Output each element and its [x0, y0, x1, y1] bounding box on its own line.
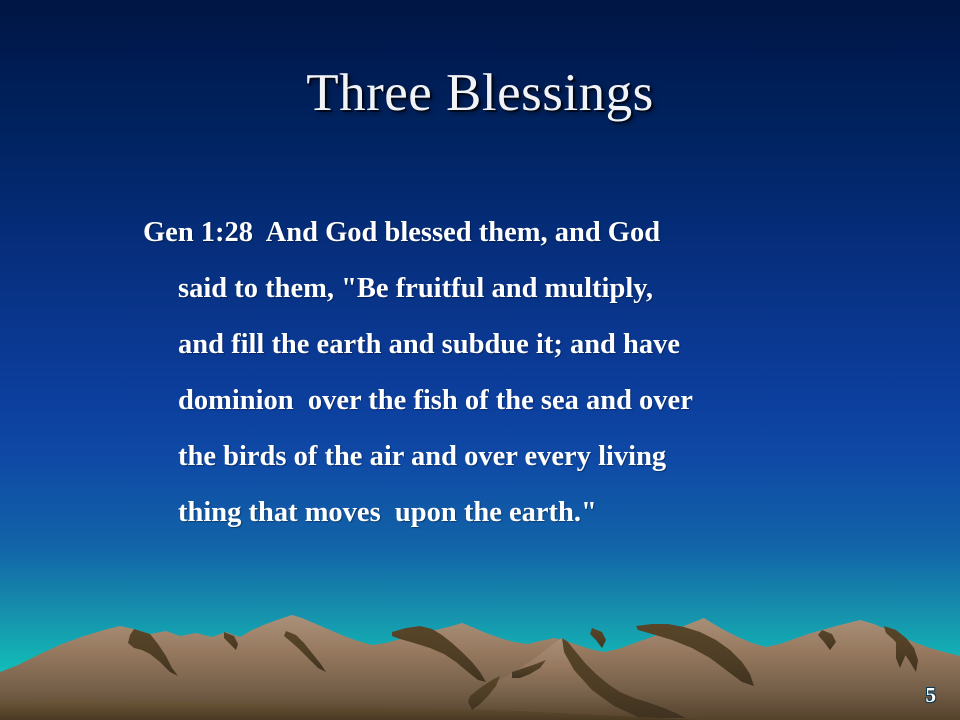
scripture-line-1: Gen 1:28 And God blessed them, and God	[143, 205, 873, 261]
page-title: Three Blessings	[306, 66, 654, 122]
scripture-line-4: dominion over the fish of the sea and ov…	[178, 373, 873, 429]
slide-body-area: Gen 1:28 And God blessed them, and Godsa…	[143, 205, 873, 541]
slide-number: 5	[926, 683, 937, 708]
scripture-line-2: said to them, "Be fruitful and multiply,	[178, 261, 873, 317]
presentation-slide: Three Blessings Gen 1:28 And God blessed…	[0, 0, 960, 720]
scripture-line-5: the birds of the air and over every livi…	[178, 429, 873, 485]
scripture-text-block: Gen 1:28 And God blessed them, and Godsa…	[143, 205, 873, 541]
scripture-line-6: thing that moves upon the earth."	[178, 485, 873, 541]
title-area: Three Blessings	[0, 30, 960, 157]
mountain-shadow-5	[590, 628, 606, 648]
mountain-range-graphic	[0, 610, 960, 720]
scripture-line-3: and fill the earth and subdue it; and ha…	[178, 317, 873, 373]
